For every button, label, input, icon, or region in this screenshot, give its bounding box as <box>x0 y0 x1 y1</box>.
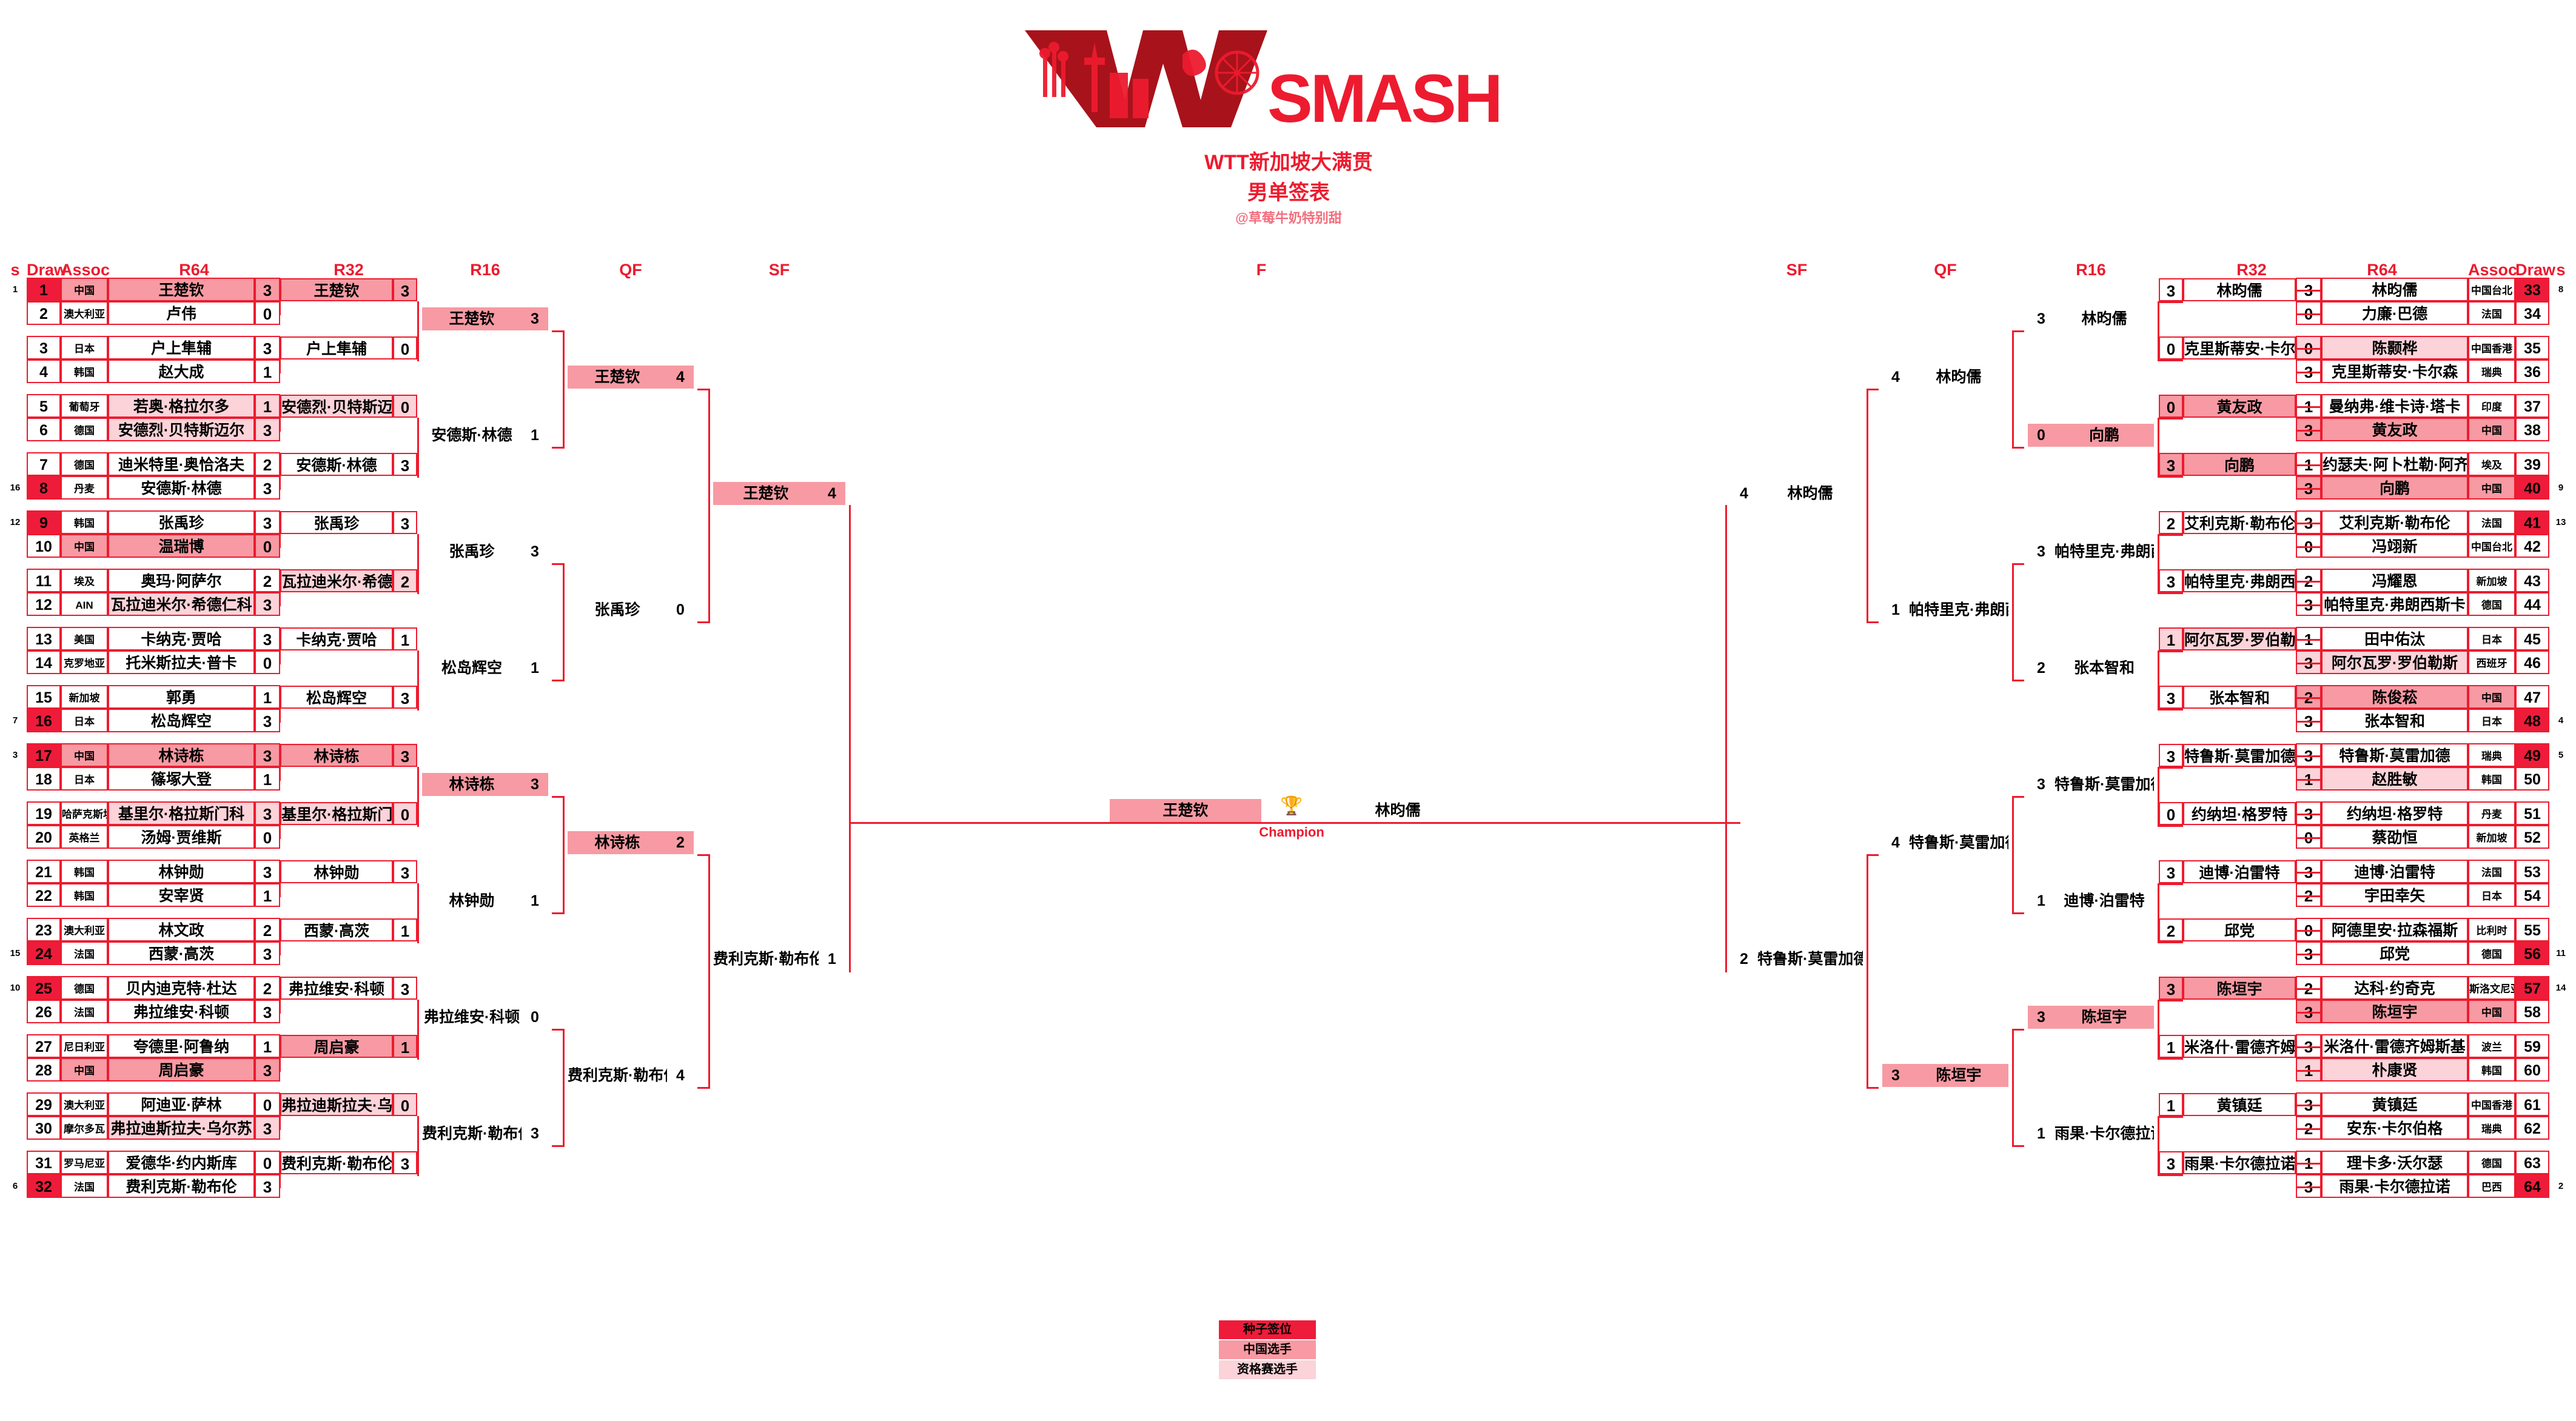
final-left-player: 王楚钦 <box>1110 799 1261 822</box>
player-name: 帕特里克·弗朗西斯卡 <box>2321 592 2468 616</box>
draw-number: 53 <box>2515 860 2549 883</box>
draw-number: 47 <box>2515 685 2549 709</box>
r32-name: 向鹏 <box>2183 453 2296 476</box>
bracket-connector <box>417 301 419 361</box>
bracket-connector <box>1867 854 1879 856</box>
r32-score: 1 <box>393 1035 417 1058</box>
bracket-connector <box>279 1163 280 1165</box>
bracket-connector <box>279 872 281 897</box>
bracket-connector <box>2158 592 2183 594</box>
bracket-connector <box>2012 563 2014 681</box>
r16-score: 0 <box>522 1006 548 1029</box>
bracket-connector <box>563 563 565 681</box>
r16-score: 1 <box>2028 889 2054 912</box>
bracket-connector <box>2296 779 2320 781</box>
bracket-connector <box>279 755 280 757</box>
bracket-connector <box>2296 663 2320 664</box>
bracket-connector <box>279 1070 280 1072</box>
bracket-connector <box>2012 1029 2014 1147</box>
association: 韩国 <box>2468 767 2515 791</box>
r32-name: 黄镇廷 <box>2183 1093 2296 1116</box>
r32-score: 3 <box>2159 977 2183 1000</box>
bracket-connector <box>279 988 280 990</box>
bracket-connector <box>2158 650 2159 711</box>
r32-score: 3 <box>393 686 417 709</box>
qf-score: 4 <box>1882 366 1909 389</box>
legend-label-qualifier: 资格赛选手 <box>1237 1363 1298 1376</box>
sf-score: 4 <box>1731 482 1757 505</box>
r16-score: 1 <box>522 424 548 447</box>
r32-name: 迪博·泊雷特 <box>2183 860 2296 883</box>
bracket-connector <box>279 546 280 548</box>
column-header-f: F <box>1170 261 1352 279</box>
bracket-connector <box>2158 1058 2183 1060</box>
r32-name: 卡纳克·贾哈 <box>280 627 393 650</box>
bracket-connector <box>2012 796 2014 914</box>
bracket-connector <box>2158 476 2183 478</box>
player-name: 理卡多·沃尔瑟 <box>2321 1151 2468 1174</box>
bracket-connector <box>279 639 280 641</box>
bracket-connector <box>2012 563 2024 565</box>
bracket-connector <box>2320 581 2322 606</box>
r16-name: 陈垣宇 <box>2054 1006 2154 1029</box>
qf-name: 特鲁斯·莫雷加德 <box>1909 831 2008 854</box>
player-name: 陈颢桦 <box>2321 336 2468 359</box>
bracket-connector <box>279 313 280 315</box>
r32-name: 林昀儒 <box>2183 278 2296 301</box>
bracket-connector <box>2158 767 2159 827</box>
bracket-connector <box>2320 348 2322 373</box>
bracket-connector <box>279 1163 281 1188</box>
bracket-connector <box>2158 709 2183 711</box>
player-name: 克里斯蒂安·卡尔森 <box>2321 359 2468 383</box>
r32-name: 户上隼辅 <box>280 336 393 359</box>
table-row <box>0 1174 2576 1198</box>
association: 法国 <box>2468 301 2515 325</box>
bracket-connector <box>2296 523 2320 524</box>
bracket-connector <box>2296 814 2320 815</box>
draw-number: 61 <box>2515 1092 2549 1116</box>
bracket-connector <box>2296 406 2320 408</box>
bracket-connector <box>2320 697 2322 723</box>
smash-wordmark: SMASH <box>1267 59 1500 138</box>
r32-score: 0 <box>393 802 417 825</box>
r16-name: 弗拉维安·科顿 <box>422 1006 522 1029</box>
r32-score: 3 <box>2159 569 2183 592</box>
bracket-connector <box>2320 464 2322 490</box>
bracket-connector <box>279 464 281 490</box>
bracket-connector <box>2158 941 2183 943</box>
r32-name: 基里尔·格拉斯门科 <box>280 802 393 825</box>
bracket-connector <box>1867 389 1868 623</box>
association: 瑞典 <box>2468 743 2515 767</box>
bracket-connector <box>552 447 563 449</box>
bracket-connector <box>849 505 851 972</box>
r32-name: 林钟勋 <box>280 860 393 883</box>
bracket-connector <box>279 930 281 955</box>
r32-name: 克里斯蒂安·卡尔森 <box>2183 336 2296 359</box>
association: 中国 <box>2468 418 2515 441</box>
qf-score: 4 <box>667 366 694 389</box>
bracket-connector <box>2012 330 2014 449</box>
r32-score: 3 <box>393 453 417 476</box>
player-name: 特鲁斯·莫雷加德 <box>2321 743 2468 767</box>
r16-name: 林昀儒 <box>2054 307 2154 330</box>
draw-number: 40 <box>2515 476 2549 500</box>
player-name: 宇田幸矢 <box>2321 883 2468 907</box>
r16-name: 张本智和 <box>2054 657 2154 680</box>
draw-number: 51 <box>2515 801 2549 825</box>
bracket-connector <box>279 1128 280 1130</box>
author-handle: @草莓牛奶特别甜 <box>1001 207 1577 227</box>
bracket-connector <box>279 430 280 432</box>
bracket-connector <box>2158 301 2183 303</box>
r16-score: 3 <box>2028 307 2054 330</box>
bracket-connector <box>2158 1116 2183 1118</box>
association: 法国 <box>2468 510 2515 534</box>
bracket-connector <box>2158 883 2183 885</box>
r16-name: 费利克斯·勒布伦 <box>422 1122 522 1145</box>
bracket-connector <box>279 1186 280 1188</box>
r32-name: 安德烈·贝特斯迈尔 <box>280 395 393 418</box>
bracket-connector <box>279 488 280 490</box>
r32-score: 3 <box>2159 1151 2183 1174</box>
player-name: 邱党 <box>2321 941 2468 965</box>
bracket-connector <box>279 406 280 408</box>
bracket-connector <box>2158 1000 2159 1060</box>
draw-number: 39 <box>2515 452 2549 476</box>
legend-item-chinese: 中国选手 <box>1219 1340 1316 1359</box>
bracket-connector <box>279 348 280 350</box>
association: 丹麦 <box>2468 801 2515 825</box>
bracket-connector <box>279 1012 280 1014</box>
r32-score: 3 <box>393 977 417 1000</box>
draw-number: 41 <box>2515 510 2549 534</box>
r32-name: 米洛什·雷德齐姆斯基 <box>2183 1035 2296 1058</box>
bracket-connector <box>2320 872 2322 897</box>
bracket-connector <box>697 1087 708 1089</box>
r32-name: 安德斯·林德 <box>280 453 393 476</box>
qf-score: 4 <box>667 1064 694 1087</box>
table-row <box>0 534 2576 558</box>
bracket-connector <box>2320 988 2322 1014</box>
player-name: 田中佑汰 <box>2321 627 2468 650</box>
bracket-connector <box>2012 330 2024 332</box>
bracket-connector <box>279 290 280 292</box>
bracket-connector <box>2296 954 2320 955</box>
bracket-connector <box>2158 767 2183 769</box>
qf-score: 1 <box>1882 598 1909 621</box>
column-header-right-assoc: Assoc <box>2468 261 2515 279</box>
bracket-connector <box>279 988 281 1014</box>
bracket-connector <box>279 464 280 466</box>
bracket-connector <box>417 767 419 827</box>
association: 巴西 <box>2468 1174 2515 1198</box>
bracket-connector <box>2296 1163 2320 1165</box>
bracket-connector <box>2320 1105 2322 1130</box>
r32-score: 1 <box>2159 1093 2183 1116</box>
wtt-smash-logo: SMASH <box>1001 6 1577 145</box>
sf-name: 费利克斯·勒布伦 <box>713 948 819 971</box>
bracket-connector <box>2012 1029 2024 1031</box>
column-header-right-s: s <box>2551 261 2571 279</box>
bracket-connector <box>279 372 280 373</box>
bracket-connector <box>552 1029 563 1031</box>
r32-score: 3 <box>2159 744 2183 767</box>
player-name: 曼纳弗·维卡诗·塔卡 <box>2321 394 2468 418</box>
draw-number: 49 <box>2515 743 2549 767</box>
bracket-connector <box>2158 883 2159 943</box>
legend-item-qualifier: 资格赛选手 <box>1219 1360 1316 1379</box>
association: 日本 <box>2468 709 2515 732</box>
column-header-draw: Draw <box>27 261 61 279</box>
legend-item-seed: 种子签位 <box>1219 1320 1316 1339</box>
sf-name: 特鲁斯·莫雷加德 <box>1757 948 1863 971</box>
draw-number: 38 <box>2515 418 2549 441</box>
table-row <box>0 359 2576 383</box>
table-row <box>0 1000 2576 1023</box>
bracket-connector <box>2296 1128 2320 1130</box>
champion-label: Champion <box>1243 824 1340 840</box>
bracket-connector <box>2320 290 2322 315</box>
bracket-connector <box>417 650 419 711</box>
r32-score: 3 <box>2159 278 2183 301</box>
association: 日本 <box>2468 883 2515 907</box>
legend-label-seed: 种子签位 <box>1243 1323 1292 1336</box>
r32-name: 张禹珍 <box>280 511 393 534</box>
r32-name: 艾利克斯·勒布伦 <box>2183 511 2296 534</box>
r32-name: 林诗栋 <box>280 744 393 767</box>
bracket-connector <box>279 779 280 781</box>
r32-score: 3 <box>393 511 417 534</box>
bracket-connector <box>279 814 280 815</box>
r32-score: 3 <box>393 1151 417 1174</box>
bracket-connector <box>2320 814 2322 839</box>
draw-number: 48 <box>2515 709 2549 732</box>
bracket-connector <box>279 1046 281 1072</box>
r16-name: 迪博·泊雷特 <box>2054 889 2154 912</box>
r32-score: 1 <box>393 918 417 941</box>
draw-number: 58 <box>2515 1000 2549 1023</box>
association: 德国 <box>2468 1151 2515 1174</box>
bracket-connector <box>279 406 281 432</box>
final-right-player: 林昀儒 <box>1322 799 1474 822</box>
bracket-connector <box>2158 418 2183 420</box>
bracket-connector <box>417 1000 419 1060</box>
player-name: 阿德里安·拉森福斯 <box>2321 918 2468 941</box>
table-row <box>0 418 2576 441</box>
qf-score: 0 <box>667 598 694 621</box>
bracket-connector <box>417 418 419 478</box>
seed-rank: 2 <box>2551 1174 2571 1198</box>
bracket-connector <box>2296 988 2320 990</box>
r32-score: 1 <box>2159 627 2183 650</box>
association: 中国 <box>2468 1000 2515 1023</box>
player-name: 约瑟夫·阿卜杜勒·阿齐兹 <box>2321 452 2468 476</box>
association: 新加坡 <box>2468 825 2515 849</box>
association: 中国台北 <box>2468 534 2515 558</box>
bracket-connector <box>2158 359 2183 361</box>
qf-score: 4 <box>1882 831 1909 854</box>
r32-name: 松岛辉空 <box>280 686 393 709</box>
draw-number: 62 <box>2515 1116 2549 1140</box>
r32-name: 周启豪 <box>280 1035 393 1058</box>
r16-score: 3 <box>522 307 548 330</box>
bracket-connector <box>2320 639 2322 664</box>
bracket-connector <box>2296 313 2320 315</box>
bracket-connector <box>1867 621 1879 623</box>
legend-label-chinese: 中国选手 <box>1243 1343 1292 1356</box>
table-row <box>0 709 2576 732</box>
bracket-connector <box>279 581 280 583</box>
player-name: 阿尔瓦罗·罗伯勒斯 <box>2321 650 2468 674</box>
bracket-connector <box>2012 1145 2024 1147</box>
bracket-connector <box>279 872 280 874</box>
association: 日本 <box>2468 627 2515 650</box>
bracket-connector <box>279 721 280 723</box>
r16-score: 2 <box>2028 657 2054 680</box>
bracket-connector <box>2296 430 2320 432</box>
r32-score: 3 <box>2159 453 2183 476</box>
column-header-r64: R64 <box>108 261 280 279</box>
bracket-connector <box>2296 1012 2320 1014</box>
column-header-right-r16: R16 <box>2024 261 2158 279</box>
bracket-connector <box>2296 546 2320 548</box>
bracket-connector <box>2012 680 2024 681</box>
association: 德国 <box>2468 941 2515 965</box>
r32-score: 2 <box>2159 511 2183 534</box>
r16-score: 3 <box>522 1122 548 1145</box>
draw-number: 43 <box>2515 569 2549 592</box>
r32-score: 0 <box>393 1093 417 1116</box>
bracket-connector <box>279 604 280 606</box>
player-name: 黄友政 <box>2321 418 2468 441</box>
seed-rank: 13 <box>2551 510 2571 534</box>
r16-name: 王楚钦 <box>422 307 522 330</box>
r32-name: 张本智和 <box>2183 686 2296 709</box>
bracket-connector <box>2296 895 2320 897</box>
player-name: 迪博·泊雷特 <box>2321 860 2468 883</box>
bracket-connector <box>2158 1116 2159 1176</box>
bracket-connector <box>2320 1163 2322 1188</box>
r16-score: 1 <box>2028 1122 2054 1145</box>
bracket-connector <box>552 796 563 798</box>
player-name: 蔡劭恒 <box>2321 825 2468 849</box>
bracket-connector <box>552 912 563 914</box>
bracket-connector <box>552 680 563 681</box>
column-header-right-r64: R64 <box>2296 261 2468 279</box>
bracket-connector <box>697 389 708 390</box>
association: 中国 <box>2468 476 2515 500</box>
column-header-sf: SF <box>709 261 849 279</box>
bracket-connector <box>2158 534 2159 594</box>
bracket-connector <box>2296 1105 2320 1106</box>
column-header-right-sf: SF <box>1727 261 1867 279</box>
sf-score: 1 <box>819 948 845 971</box>
r32-name: 瓦拉迪米尔·希德仁科 <box>280 569 393 592</box>
bracket-page: SMASH WTT新加坡大满贯 男单签表 @草莓牛奶特别甜 sDrawAssoc… <box>0 0 2576 1421</box>
bracket-connector <box>708 854 710 1089</box>
draw-number: 59 <box>2515 1034 2549 1058</box>
bracket-connector <box>2296 581 2320 583</box>
qf-name: 帕特里克·弗朗西斯卡 <box>1909 598 2008 621</box>
seed-rank: 9 <box>2551 476 2571 500</box>
draw-number: 50 <box>2515 767 2549 791</box>
r32-score: 3 <box>393 860 417 883</box>
bracket-connector <box>279 895 280 897</box>
r32-name: 弗拉迪斯拉夫·乌尔苏 <box>280 1093 393 1116</box>
table-row <box>0 1058 2576 1082</box>
bracket-connector <box>279 523 281 548</box>
sf-name: 王楚钦 <box>713 482 819 505</box>
bracket-connector <box>279 663 280 664</box>
player-name: 力廉·巴德 <box>2321 301 2468 325</box>
draw-number: 36 <box>2515 359 2549 383</box>
r32-score: 1 <box>2159 1035 2183 1058</box>
bracket-connector <box>279 523 280 524</box>
table-row <box>0 476 2576 500</box>
bracket-connector <box>2296 604 2320 606</box>
r32-score: 0 <box>2159 395 2183 418</box>
draw-number: 35 <box>2515 336 2549 359</box>
table-row <box>0 650 2576 674</box>
bracket-connector <box>2296 290 2320 292</box>
player-name: 林昀儒 <box>2321 278 2468 301</box>
r16-score: 3 <box>522 773 548 796</box>
qf-name: 费利克斯·勒布伦 <box>568 1064 667 1087</box>
r32-name: 西蒙·高茨 <box>280 918 393 941</box>
column-header-assoc: Assoc <box>61 261 108 279</box>
final-right-name: 林昀儒 <box>1375 802 1420 819</box>
draw-number: 44 <box>2515 592 2549 616</box>
bracket-connector <box>1867 389 1879 390</box>
association: 中国香港 <box>2468 336 2515 359</box>
draw-number: 37 <box>2515 394 2549 418</box>
bracket-connector <box>2296 639 2320 641</box>
r16-score: 3 <box>2028 540 2054 563</box>
bracket-connector <box>279 581 281 606</box>
r32-name: 邱党 <box>2183 918 2296 941</box>
association: 法国 <box>2468 860 2515 883</box>
bracket-connector <box>279 1046 280 1048</box>
association: 瑞典 <box>2468 1116 2515 1140</box>
table-row <box>0 883 2576 907</box>
r32-score: 3 <box>393 278 417 301</box>
bracket-connector <box>2296 1046 2320 1048</box>
bracket-connector <box>279 697 280 699</box>
r32-name: 陈垣宇 <box>2183 977 2296 1000</box>
r16-score: 3 <box>522 540 548 563</box>
r16-score: 1 <box>522 889 548 912</box>
r16-name: 安德斯·林德 <box>422 424 522 447</box>
bracket-connector <box>417 883 419 943</box>
draw-number: 42 <box>2515 534 2549 558</box>
sf-score: 4 <box>819 482 845 505</box>
r32-name: 雨果·卡尔德拉诺 <box>2183 1151 2296 1174</box>
player-name: 黄镇廷 <box>2321 1092 2468 1116</box>
page-title: WTT新加坡大满贯 <box>1001 145 1577 175</box>
column-header-r32: R32 <box>280 261 417 279</box>
player-name: 陈俊菘 <box>2321 685 2468 709</box>
bracket-connector <box>2296 755 2320 757</box>
r32-score: 0 <box>393 395 417 418</box>
column-header-right-draw: Draw <box>2515 261 2549 279</box>
r32-score: 2 <box>2159 918 2183 941</box>
r16-name: 雨果·卡尔德拉诺 <box>2054 1122 2154 1145</box>
r16-name: 林钟勋 <box>422 889 522 912</box>
r32-score: 3 <box>2159 686 2183 709</box>
r16-name: 林诗栋 <box>422 773 522 796</box>
